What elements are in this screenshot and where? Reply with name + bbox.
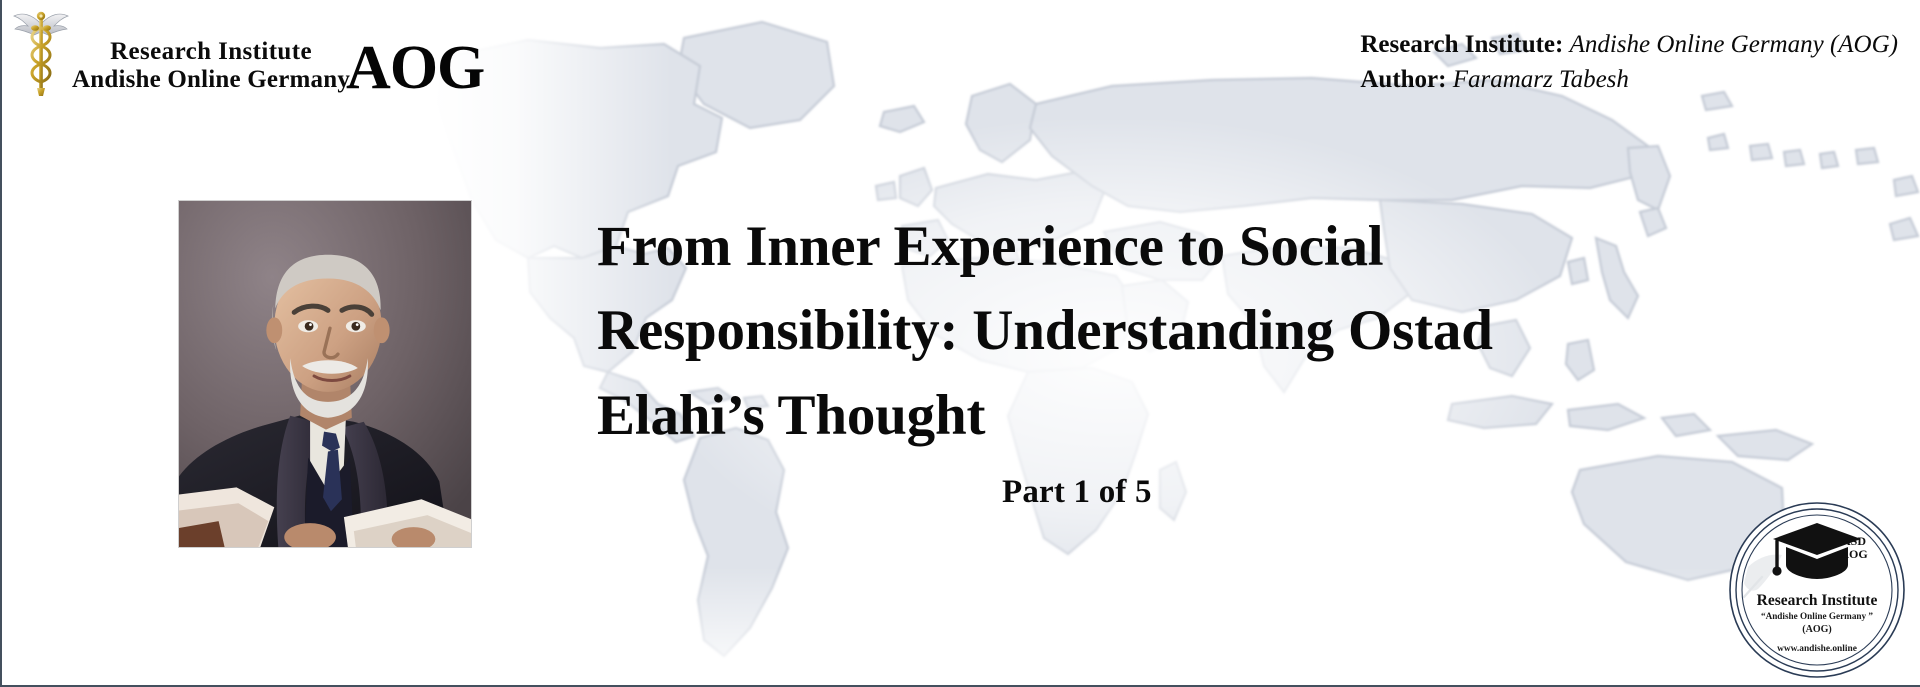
title-block: From Inner Experience to Social Responsi… bbox=[597, 205, 1597, 458]
seal-mark-line1: ASD bbox=[1842, 534, 1866, 548]
meta-info: Research Institute: Andishe Online Germa… bbox=[1360, 28, 1898, 97]
title-line-3: Elahi’s Thought bbox=[597, 374, 1597, 458]
logo-line-andishe-online-germany: Andishe Online Germany bbox=[72, 67, 350, 92]
author-value: Faramarz Tabesh bbox=[1453, 66, 1629, 93]
part-subtitle: Part 1 of 5 bbox=[1002, 474, 1152, 511]
logo-line-research-institute: Research Institute bbox=[72, 39, 350, 64]
seal-subheading: “Andishe Online Germany ” bbox=[1761, 611, 1873, 621]
institute-value: Andishe Online Germany (AOG) bbox=[1570, 31, 1898, 58]
seal-mark-line2: AOG bbox=[1840, 547, 1867, 561]
seal-acronym: (AOG) bbox=[1802, 624, 1831, 635]
author-label: Author: bbox=[1360, 66, 1446, 93]
aog-logo: Research Institute Andishe Online German… bbox=[10, 4, 484, 100]
title-line-2: Responsibility: Understanding Ostad bbox=[597, 289, 1597, 373]
seal-heading: Research Institute bbox=[1757, 592, 1878, 609]
author-portrait-photo bbox=[178, 200, 472, 548]
logo-acronym: AOG bbox=[346, 39, 484, 100]
institute-label: Research Institute: bbox=[1360, 31, 1563, 58]
seal-website: www.andishe.online bbox=[1777, 644, 1857, 654]
presentation-banner: Research Institute Andishe Online German… bbox=[0, 0, 1920, 687]
meta-row-author: Author: Faramarz Tabesh bbox=[1360, 63, 1898, 98]
meta-row-institute: Research Institute: Andishe Online Germa… bbox=[1360, 28, 1898, 63]
map-bottom-fade bbox=[432, 567, 1920, 687]
logo-wordmark: Research Institute Andishe Online German… bbox=[72, 39, 350, 100]
caduceus-icon bbox=[10, 4, 72, 100]
institute-seal: ASD AOG Research Institute “Andishe Onli… bbox=[1728, 501, 1906, 679]
title-line-1: From Inner Experience to Social bbox=[597, 205, 1597, 289]
